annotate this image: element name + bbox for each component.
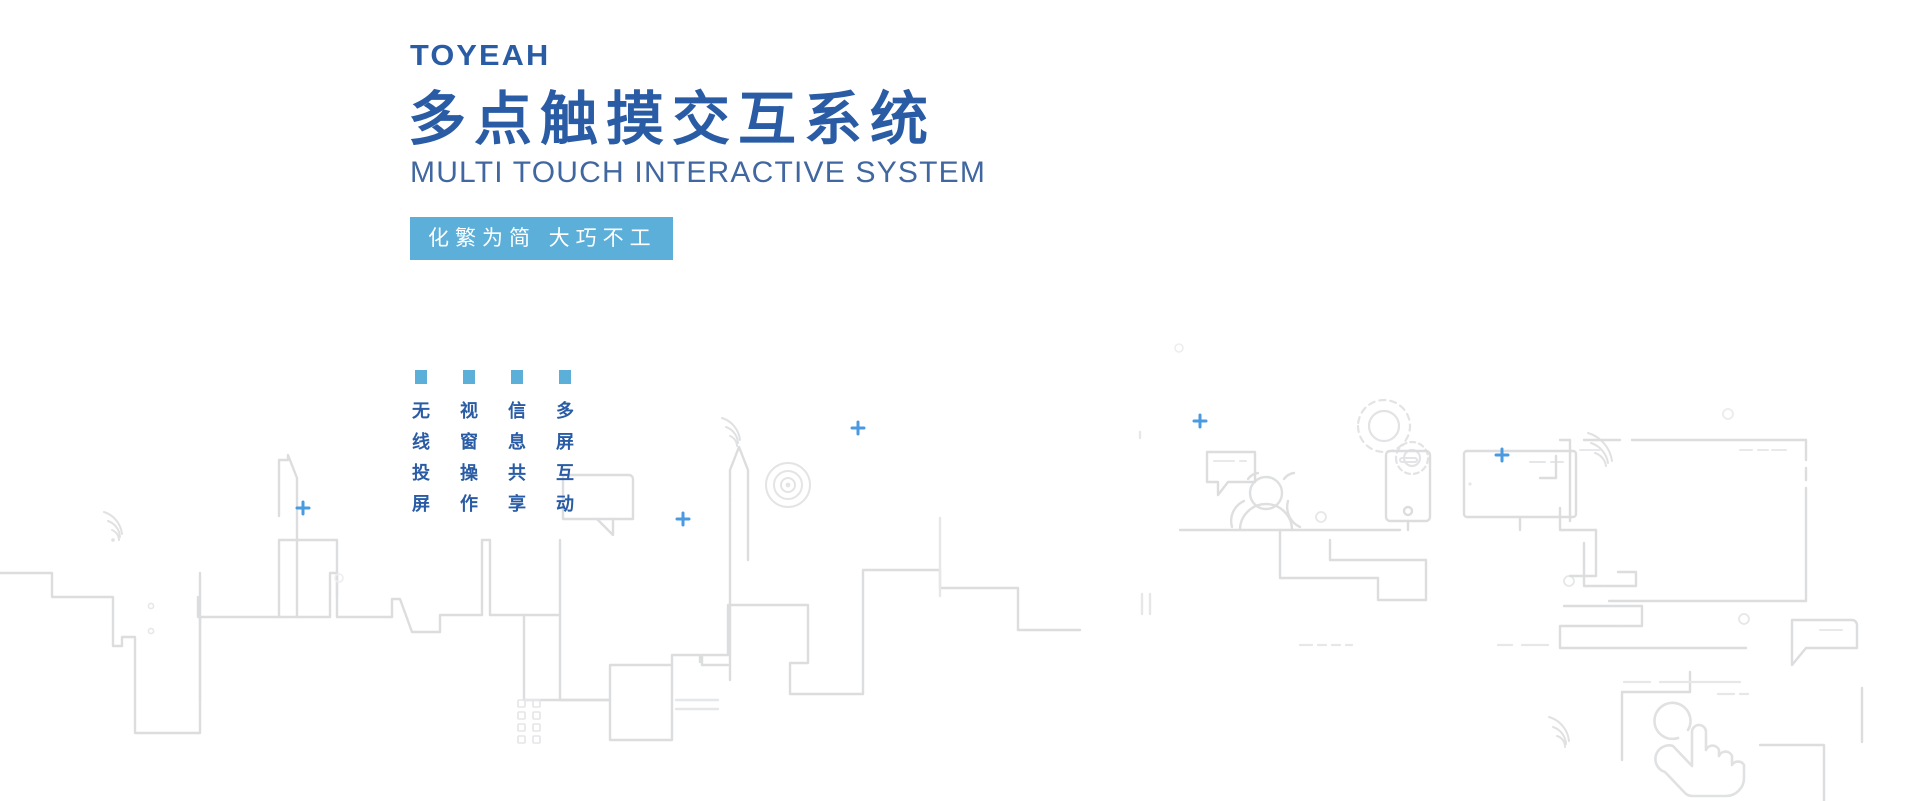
radar-target-icon xyxy=(766,463,810,507)
feature-char: 窗 xyxy=(460,427,478,458)
feature-column-multi-screen: 多 屏 互 动 xyxy=(554,370,576,520)
feature-char: 多 xyxy=(556,396,574,427)
building-bars xyxy=(1142,594,1150,614)
touch-hand-icon xyxy=(1654,703,1744,796)
skyline-block-4 xyxy=(482,540,560,700)
window-stripes xyxy=(676,700,718,709)
feature-char: 互 xyxy=(556,458,574,489)
brand-logo: TOYEAH xyxy=(410,42,1021,71)
feature-char: 视 xyxy=(460,396,478,427)
feature-column-wireless-cast: 无 线 投 屏 xyxy=(410,370,432,520)
window-grid xyxy=(518,700,540,743)
tablet-icon xyxy=(1386,451,1430,530)
page-subtitle: MULTI TOUCH INTERACTIVE SYSTEM xyxy=(410,156,986,189)
skyline-block-2 xyxy=(279,455,392,617)
poster-canvas: TOYEAH 多点触摸交互系统 MULTI TOUCH INTERACTIVE … xyxy=(0,0,1920,801)
circle-dot-icon xyxy=(1564,576,1574,586)
skyline-tower-left xyxy=(198,573,337,700)
dash-segments xyxy=(1300,645,1748,694)
skyline-block-8 xyxy=(863,570,1080,694)
skyline-block-5 xyxy=(560,615,610,700)
wifi-signal-icon xyxy=(722,418,740,446)
square-marker-icon xyxy=(559,370,571,384)
circle-dot-icon xyxy=(1316,512,1326,522)
feature-char: 作 xyxy=(460,489,478,520)
plus-marker-icon xyxy=(297,502,309,514)
feature-char: 享 xyxy=(508,489,526,520)
skyline-left xyxy=(0,573,200,733)
plus-marker-icon xyxy=(1194,415,1206,427)
feature-char: 屏 xyxy=(412,489,430,520)
feature-char: 线 xyxy=(412,427,430,458)
speech-bubble-icon xyxy=(1792,620,1857,665)
wifi-signal-icon xyxy=(1549,717,1569,747)
feature-char: 息 xyxy=(508,427,526,458)
skyline-tower-center xyxy=(730,447,748,680)
skyline-block-3 xyxy=(392,599,482,632)
feature-char: 无 xyxy=(412,396,430,427)
feature-char: 屏 xyxy=(556,427,574,458)
page-title: 多点触摸交互系统 xyxy=(408,89,986,150)
feature-char: 共 xyxy=(508,458,526,489)
square-marker-icon xyxy=(463,370,475,384)
circle-dot-icon xyxy=(148,603,153,608)
square-marker-icon xyxy=(511,370,523,384)
feature-char: 动 xyxy=(556,489,574,520)
circle-dot-icon xyxy=(1739,614,1749,624)
plus-marker-icon xyxy=(677,513,689,525)
feature-char: 信 xyxy=(508,396,526,427)
wifi-signal-icon xyxy=(104,512,122,542)
feature-char: 投 xyxy=(412,458,430,489)
skyline-block-7 xyxy=(702,605,863,694)
feature-columns: 无 线 投 屏 视 窗 操 作 信 息 共 享 多 屏 互 动 xyxy=(410,370,576,520)
speech-bubble-icon xyxy=(1207,452,1255,495)
tagline-badge: 化繁为简 大巧不工 xyxy=(410,217,673,260)
skyline-block-6 xyxy=(610,655,700,740)
plus-marker-icon xyxy=(852,422,864,434)
feature-char: 操 xyxy=(460,458,478,489)
square-marker-icon xyxy=(415,370,427,384)
feature-column-info-sharing: 信 息 共 享 xyxy=(506,370,528,520)
feature-column-window-control: 视 窗 操 作 xyxy=(458,370,480,520)
hero-text-block: TOYEAH 多点触摸交互系统 MULTI TOUCH INTERACTIVE … xyxy=(408,42,986,260)
circle-dot-icon xyxy=(148,628,153,633)
large-screen-icon xyxy=(1560,440,1806,601)
